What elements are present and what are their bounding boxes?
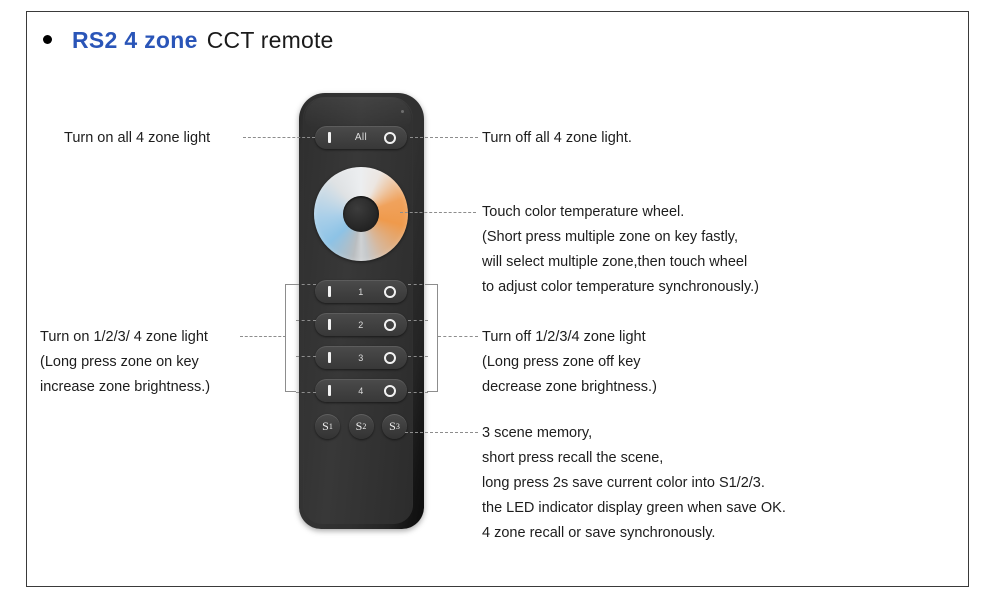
all-zone-key[interactable]: All [315,126,407,149]
bracket-zones-off [427,284,438,392]
leader-zones-off-text [438,336,478,337]
scene-key-s2[interactable]: S2 [349,414,374,439]
leader-zones-on-text [240,336,286,337]
page-title-highlight: RS2 4 zone [72,27,198,54]
callout-wheel-line-3: will select multiple zone,then touch whe… [482,250,759,275]
callout-scenes-line-3: long press 2s save current color into S1… [482,471,786,496]
zone-1-off-icon[interactable] [384,286,396,298]
callout-wheel-line-2: (Short press multiple zone on key fastly… [482,225,759,250]
scene-key-row: S1 S2 S3 [315,413,407,439]
callout-zones-off-line-3: decrease zone brightness.) [482,375,657,400]
leader-zone1-on [296,284,316,285]
leader-zone3-on [296,356,316,357]
remote-faceplate [303,97,413,524]
callout-wheel-line-4: to adjust color temperature synchronousl… [482,275,759,300]
leader-zone4-on [296,392,316,393]
callout-zones-on-line-1: Turn on 1/2/3/ 4 zone light [40,325,210,350]
callout-zones-off-line-1: Turn off 1/2/3/4 zone light [482,325,657,350]
scene-key-s1-letter: S [322,419,329,434]
page-title: RS2 4 zone CCT remote [43,27,334,54]
remote-gloss [305,98,411,128]
color-temperature-wheel[interactable] [314,167,408,261]
scene-key-s2-letter: S [356,419,363,434]
callout-all-off: Turn off all 4 zone light. [482,126,632,151]
scene-key-s3-index: 3 [396,422,400,431]
leader-wheel [400,212,476,213]
callout-all-on-line-1: Turn on all 4 zone light [64,126,210,151]
zone-2-off-icon[interactable] [384,319,396,331]
callout-zones-off-line-2: (Long press zone off key [482,350,657,375]
callout-scenes-line-2: short press recall the scene, [482,446,786,471]
zone-key-1[interactable]: 1 [315,280,407,303]
callout-all-off-line-1: Turn off all 4 zone light. [482,126,632,151]
leader-zone3-off [408,356,428,357]
callout-wheel: Touch color temperature wheel. (Short pr… [482,200,759,300]
callout-zones-off: Turn off 1/2/3/4 zone light (Long press … [482,325,657,400]
callout-scenes: 3 scene memory, short press recall the s… [482,421,786,546]
callout-scenes-line-5: 4 zone recall or save synchronously. [482,521,786,546]
leader-zone4-off [408,392,428,393]
scene-key-s3-letter: S [389,419,396,434]
bullet-icon [43,35,52,44]
scene-key-s2-index: 2 [362,422,366,431]
page-title-rest: CCT remote [207,27,334,54]
leader-all-on [243,137,315,138]
callout-zones-on-line-2: (Long press zone on key [40,350,210,375]
leader-scenes [405,432,478,433]
zone-key-2[interactable]: 2 [315,313,407,336]
page-root: RS2 4 zone CCT remote All 1 2 [0,0,1000,613]
scene-key-s3[interactable]: S3 [382,414,407,439]
leader-zone2-off [408,320,428,321]
bracket-zones-on [285,284,296,392]
callout-zones-on: Turn on 1/2/3/ 4 zone light (Long press … [40,325,210,400]
wheel-center-hole [343,196,379,232]
zone-4-off-icon[interactable] [384,385,396,397]
zone-key-3[interactable]: 3 [315,346,407,369]
leader-zone1-off [408,284,428,285]
callout-scenes-line-1: 3 scene memory, [482,421,786,446]
zone-key-4[interactable]: 4 [315,379,407,402]
scene-key-s1-index: 1 [329,422,333,431]
zone-3-off-icon[interactable] [384,352,396,364]
status-led-icon [401,110,404,113]
callout-zones-on-line-3: increase zone brightness.) [40,375,210,400]
leader-zone2-on [296,320,316,321]
callout-wheel-line-1: Touch color temperature wheel. [482,200,759,225]
scene-key-s1[interactable]: S1 [315,414,340,439]
all-off-icon[interactable] [384,132,396,144]
callout-all-on: Turn on all 4 zone light [64,126,210,151]
remote-device: All 1 2 3 4 [299,93,424,529]
callout-scenes-line-4: the LED indicator display green when sav… [482,496,786,521]
leader-all-off [410,137,478,138]
